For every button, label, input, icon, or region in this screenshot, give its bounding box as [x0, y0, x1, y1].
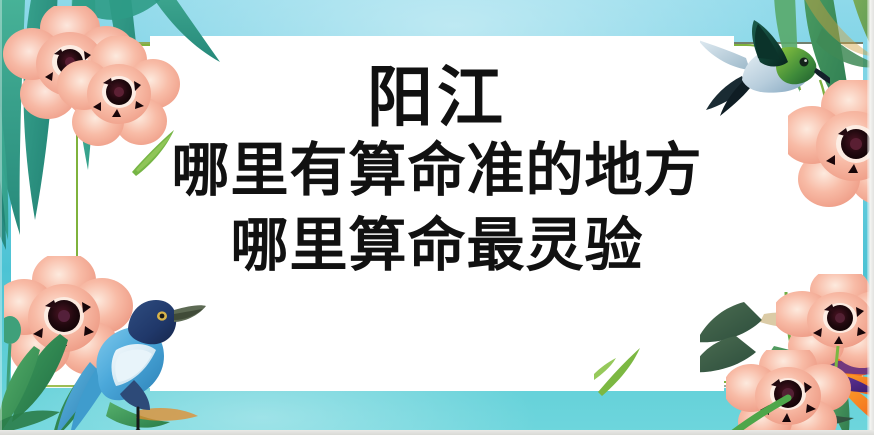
frame-mask-right	[788, 90, 814, 315]
promotional-banner: 阳江 哪里有算命准的地方 哪里算命最灵验	[0, 0, 874, 435]
edge-line-right	[867, 0, 874, 435]
frame-mask-top	[150, 36, 734, 54]
edge-line-bottom	[0, 430, 874, 435]
content-card	[11, 42, 863, 387]
edge-line-left	[0, 0, 2, 435]
frame-mask-bottom	[150, 373, 724, 391]
